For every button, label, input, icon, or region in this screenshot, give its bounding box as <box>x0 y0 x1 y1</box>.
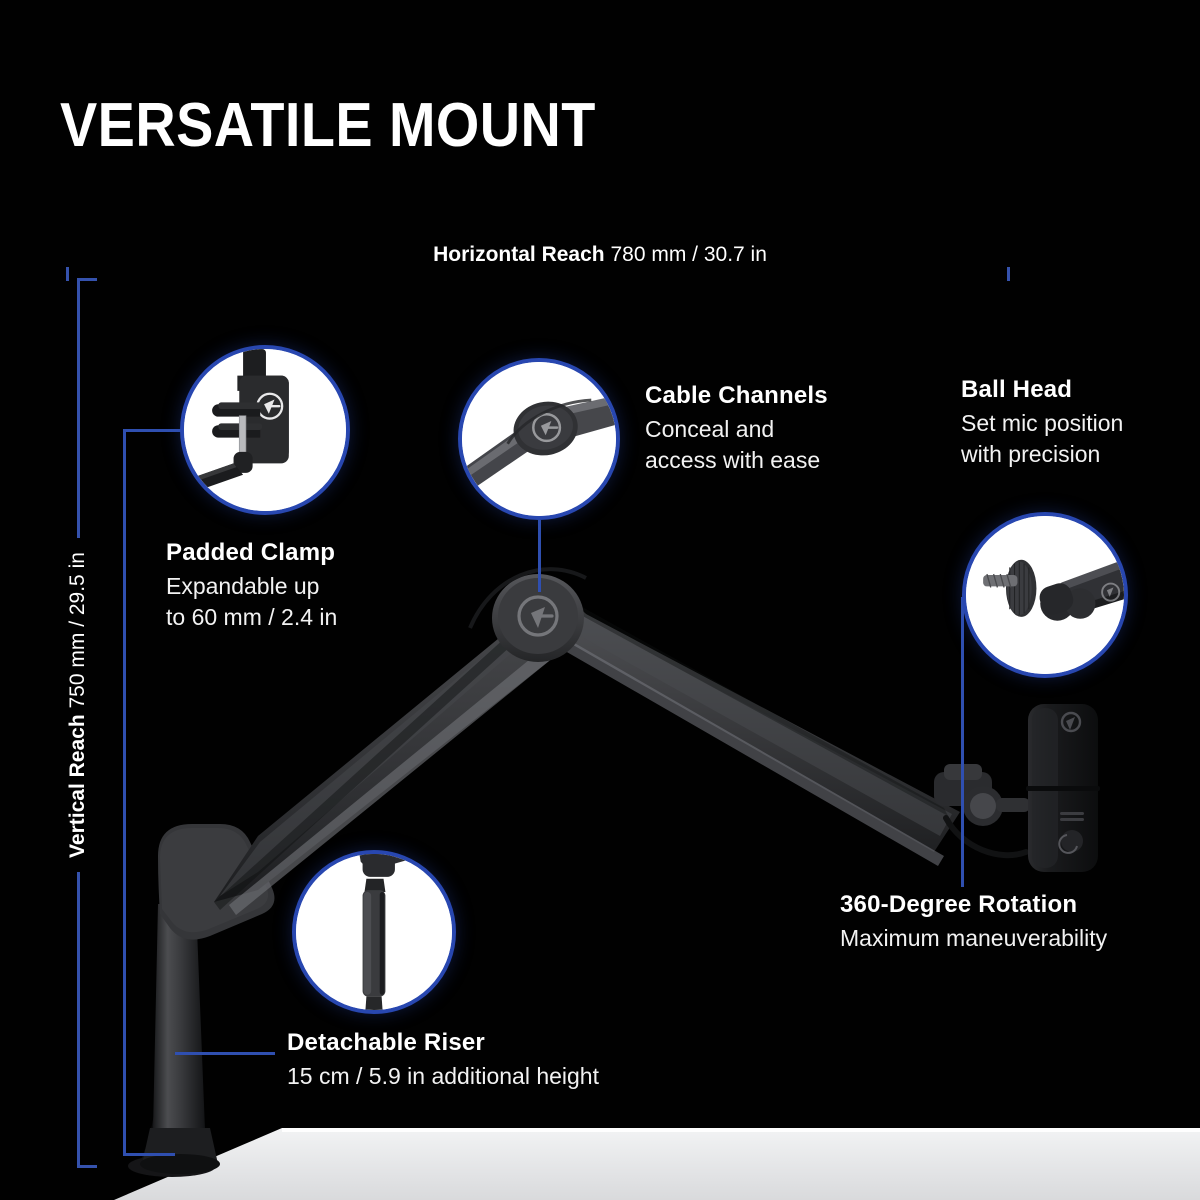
callout-title-detachable-riser: Detachable Riser <box>287 1028 707 1059</box>
vertical-reach-top-tick <box>77 278 97 281</box>
callout-image-cable-channels <box>458 358 620 520</box>
leader-line-padded-clamp-bottom <box>123 1153 175 1156</box>
callout-title-padded-clamp: Padded Clamp <box>166 538 466 569</box>
vertical-reach-label: Vertical Reach 750 mm / 29.5 in <box>66 305 90 1105</box>
callout-title-ball-head: Ball Head <box>961 375 1200 406</box>
padded-clamp-photo <box>184 349 346 511</box>
callout-body-padded-clamp-line2: to 60 mm / 2.4 in <box>166 602 466 633</box>
callout-body-rotation-line1: Maximum maneuverability <box>840 923 1200 954</box>
horizontal-reach-label: Horizontal Reach 780 mm / 30.7 in <box>0 243 1200 267</box>
callout-body-cable-channels-line2: access with ease <box>645 445 935 476</box>
cable-channel-joint-photo <box>462 362 616 516</box>
callout-image-ball-head <box>962 512 1128 678</box>
ball-head-photo <box>966 516 1124 674</box>
callout-body-ball-head-line2: with precision <box>961 439 1200 470</box>
vertical-reach-title: Vertical Reach <box>66 714 89 858</box>
product-feature-diagram: VERSATILE MOUNT Horizontal Reach 780 mm … <box>0 0 1200 1200</box>
callout-image-detachable-riser <box>292 850 456 1014</box>
microphone-body <box>1026 704 1100 872</box>
detachable-riser-photo <box>296 854 452 1010</box>
callout-image-padded-clamp <box>180 345 350 515</box>
callout-text-ball-head: Ball Head Set mic position with precisio… <box>961 375 1200 470</box>
leader-line-cable-channels <box>538 520 541 592</box>
callout-text-rotation: 360-Degree Rotation Maximum maneuverabil… <box>840 890 1200 954</box>
callout-body-ball-head-line1: Set mic position <box>961 408 1200 439</box>
leader-line-ball-head <box>961 597 964 887</box>
horizontal-reach-value: 780 mm / 30.7 in <box>610 243 766 266</box>
callout-body-detachable-riser-line1: 15 cm / 5.9 in additional height <box>287 1061 707 1092</box>
page-title: VERSATILE MOUNT <box>60 95 596 157</box>
callout-title-cable-channels: Cable Channels <box>645 381 935 412</box>
leader-line-padded-clamp-top <box>123 429 183 432</box>
callout-text-padded-clamp: Padded Clamp Expandable up to 60 mm / 2.… <box>166 538 466 633</box>
callout-text-detachable-riser: Detachable Riser 15 cm / 5.9 in addition… <box>287 1028 707 1092</box>
leader-line-padded-clamp-vertical <box>123 429 126 1156</box>
leader-line-detachable-riser <box>175 1052 275 1055</box>
callout-title-rotation: 360-Degree Rotation <box>840 890 1200 921</box>
callout-body-padded-clamp-line1: Expandable up <box>166 571 466 602</box>
vertical-reach-value: 750 mm / 29.5 in <box>66 552 89 708</box>
horizontal-reach-title: Horizontal Reach <box>433 243 605 266</box>
vertical-reach-bottom-tick <box>77 1165 97 1168</box>
callout-text-cable-channels: Cable Channels Conceal and access with e… <box>645 381 935 476</box>
callout-body-cable-channels-line1: Conceal and <box>645 414 935 445</box>
